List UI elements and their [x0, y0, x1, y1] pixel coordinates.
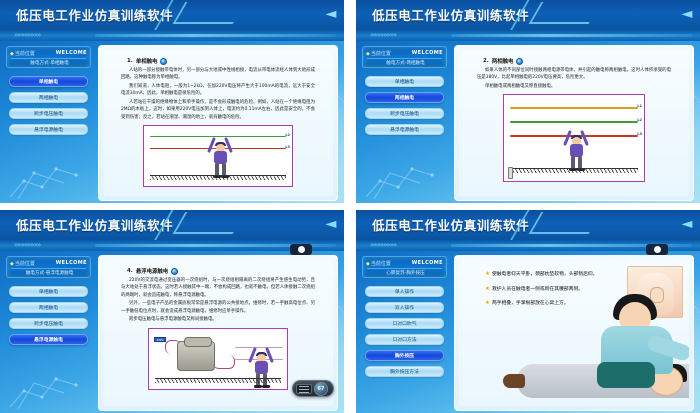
rescuer-figure — [595, 296, 689, 388]
sidebar-item-2[interactable]: 口对口吹气 — [365, 318, 444, 329]
cable-right — [213, 355, 235, 369]
paragraph-0: 220V的交流电通过变压器的一次绕组时，与一次绕组相隔离的二次绕组将产生感生电动… — [121, 277, 315, 299]
person-figure — [249, 345, 273, 379]
sidebar: ◆当前位置 WELCOME 触电方式-两相触电 单相触电 两相触电 跨步电压触电… — [356, 41, 452, 203]
plug-220v: 220V — [154, 337, 166, 342]
location-box: ◆当前位置 WELCOME 心肺复苏-胸外按压 — [362, 256, 447, 278]
figure-two-phase: L1 L2 L3 — [503, 94, 645, 182]
sidebar-item-0[interactable]: 单相触电 — [365, 76, 444, 87]
chevron-marks-icon: »»»»»»»» — [370, 241, 396, 249]
sidebar-decoration-icon — [4, 363, 92, 411]
paragraph-1: 另外，一些电子产品的金属底板常常是悬浮电源的公共接地点。维修时，若一手触高电位点… — [121, 300, 315, 315]
ground-hatch — [155, 378, 281, 383]
sidebar-menu: 单相触电 两相触电 跨步电压触电 悬浮电源触电 — [6, 286, 91, 345]
subbar-line — [451, 34, 692, 37]
welcome-label: WELCOME — [412, 260, 443, 266]
panel-4: 低压电工作业仿真训练软件 ◄ »»»»»»»» ◆当前位置 WELCOME 心肺… — [356, 210, 700, 413]
wire-l2 — [510, 121, 638, 123]
panel-body: ◆当前位置 WELCOME 触电方式-单相触电 单相触电 两相触电 跨步电压触电… — [0, 41, 344, 203]
person-figure — [564, 128, 590, 168]
ground-hatch — [150, 175, 286, 180]
victim-shoe — [503, 374, 525, 388]
location-box: ◆当前位置 WELCOME 触电方式-两相触电 — [362, 46, 447, 68]
sidebar-item-0[interactable]: 单相触电 — [9, 76, 88, 87]
divider — [367, 268, 442, 269]
back-arrow-icon[interactable]: ◄ — [323, 7, 339, 21]
chevron-marks-icon: »»»»»»»» — [14, 241, 40, 249]
section-title: 1. 单相触电 — [127, 57, 333, 65]
panel-2: 低压电工作业仿真训练软件 ◄ »»»»»»»» ◆当前位置 WELCOME 触电… — [356, 0, 700, 203]
panel-3: 低压电工作业仿真训练软件 ◄ »»»»»»»» ◆当前位置 WELCOME 触电… — [0, 210, 344, 413]
star-icon: ★ — [485, 286, 490, 292]
transformer-icon — [177, 341, 215, 371]
star-icon: ★ — [485, 271, 490, 277]
sidebar-menu: 单相触电 两相触电 跨步电压触电 悬浮电源触电 — [362, 76, 447, 135]
location-box: ◆当前位置 WELCOME 触电方式-悬浮电源触电 — [6, 256, 91, 278]
sidebar-item-0[interactable]: 单相触电 — [9, 286, 88, 297]
content-card: ★使触电者仰天平卧，颈部枕垫软物，头部稍后仰。 ★救护人员在触电者一侧或跨在其腰… — [454, 255, 694, 411]
header-bar: 低压电工作业仿真训练软件 ◄ — [0, 0, 344, 30]
sidebar: ◆当前位置 WELCOME 心肺复苏-胸外按压 单人操作 双人操作 口对口吹气 … — [356, 251, 452, 413]
current-location-label: ◆当前位置 — [366, 50, 391, 57]
sidebar-item-1[interactable]: 双人操作 — [365, 302, 444, 313]
divider — [11, 268, 86, 269]
wire-label-l1: L1 — [637, 104, 642, 108]
lightbulb-icon — [171, 268, 178, 275]
current-location-label: ◆当前位置 — [10, 50, 35, 57]
sidebar-item-5[interactable]: 胸外按压方法 — [365, 366, 444, 377]
header-swoosh2-icon — [529, 2, 602, 24]
section-title: 4. 悬浮电源触电 — [127, 267, 333, 275]
header-swoosh2-icon — [529, 212, 602, 234]
media-control-badge[interactable]: 67 — [292, 380, 334, 397]
wire-label-l3: L3 — [637, 132, 642, 136]
wire-label-l2: L2 — [637, 118, 642, 122]
welcome-label: WELCOME — [56, 50, 87, 56]
diamond-icon: ◆ — [366, 261, 370, 267]
lightbulb-icon — [160, 58, 167, 65]
chevron-marks-icon: »»»»»»»» — [370, 31, 396, 39]
sidebar-item-2[interactable]: 跨步电压触电 — [9, 318, 88, 329]
sidebar: ◆当前位置 WELCOME 触电方式-悬浮电源触电 单相触电 两相触电 跨步电压… — [0, 251, 96, 413]
paragraph-2: 跨步电压触电与悬浮电源触电又称间接触电。 — [121, 316, 315, 323]
breadcrumb: 心肺复苏-胸外按压 — [369, 270, 442, 276]
wire-label-l2: L2 — [285, 133, 290, 137]
diamond-icon: ◆ — [10, 51, 14, 57]
sidebar-decoration-icon — [360, 153, 448, 201]
measure-probe-icon — [508, 167, 513, 179]
sidebar: ◆当前位置 WELCOME 触电方式-单相触电 单相触电 两相触电 跨步电压触电… — [0, 41, 96, 203]
header-bar: 低压电工作业仿真训练软件 ◄ — [356, 210, 700, 240]
page-title: 低压电工作业仿真训练软件 — [16, 215, 173, 234]
figure-single-phase: L2 L3 — [143, 125, 293, 187]
page-title: 低压电工作业仿真训练软件 — [16, 5, 173, 24]
divider — [11, 58, 86, 59]
sidebar-item-3[interactable]: 悬浮电源触电 — [9, 334, 88, 345]
sidebar-item-2[interactable]: 跨步电压触电 — [9, 108, 88, 119]
breadcrumb: 触电方式-两相触电 — [369, 60, 442, 66]
header-bar: 低压电工作业仿真训练软件 ◄ — [356, 0, 700, 30]
header-subbar: »»»»»»»» — [356, 30, 700, 41]
breadcrumb: 触电方式-单相触电 — [13, 60, 86, 66]
lightbulb-icon — [516, 58, 523, 65]
sidebar-item-2[interactable]: 跨步电压触电 — [365, 108, 444, 119]
diamond-icon: ◆ — [10, 261, 14, 267]
content-card: 1. 单相触电 人站的一部分接触带电体时，另一部分与大地或中性线相接，电流从带电… — [98, 45, 338, 201]
paragraph-1: 单相触电或两相触电又称直接触电。 — [477, 83, 671, 90]
header-bar: 低压电工作业仿真训练软件 ◄ — [0, 210, 344, 240]
sidebar-item-3[interactable]: 口对口方法 — [365, 334, 444, 345]
header-swoosh2-icon — [173, 2, 246, 24]
page-title: 低压电工作业仿真训练软件 — [372, 215, 529, 234]
page-title: 低压电工作业仿真训练软件 — [372, 5, 529, 24]
sidebar-item-3[interactable]: 悬浮电源触电 — [365, 124, 444, 135]
panel-1: 低压电工作业仿真训练软件 ◄ »»»»»»»» ◆当前位置 WELCOME 触电… — [0, 0, 344, 203]
paragraph-1: 我们知道，人体电阻，一般为1~2kΩ，在加220V电压将产生大于100mA的电流… — [121, 83, 315, 98]
sidebar-item-1[interactable]: 两相触电 — [9, 302, 88, 313]
ground-hatch — [510, 168, 638, 173]
sidebar-menu: 单人操作 双人操作 口对口吹气 口对口方法 胸外按压 胸外按压方法 — [362, 286, 447, 377]
back-arrow-icon[interactable]: ◄ — [679, 7, 695, 21]
cpr-illustration — [477, 296, 689, 406]
paragraph-2: 人若站在干燥的绝缘物体上和单手操作，是不会形成触电的危险。例如，人站在一个绝缘电… — [121, 99, 315, 121]
person-figure — [208, 135, 234, 175]
welcome-label: WELCOME — [412, 50, 443, 56]
section-title: 2. 两相触电 — [483, 57, 689, 65]
sidebar-item-3[interactable]: 悬浮电源触电 — [9, 124, 88, 135]
dial-value[interactable]: 67 — [314, 382, 328, 396]
subbar-line — [95, 34, 336, 37]
header-swoosh2-icon — [173, 212, 246, 234]
location-box: ◆当前位置 WELCOME 触电方式-单相触电 — [6, 46, 91, 68]
menu-lines-icon[interactable] — [296, 384, 312, 394]
welcome-label: WELCOME — [56, 260, 87, 266]
breadcrumb: 触电方式-悬浮电源触电 — [13, 270, 86, 276]
content-card: 2. 两相触电 如果人体的不同部位同时接触两相电源带电体，并引起的触电称两相触电… — [454, 45, 694, 201]
figure-floating-source: 220V — [148, 328, 288, 390]
sidebar-item-0[interactable]: 单人操作 — [365, 286, 444, 297]
paragraph-0: 如果人体的不同部位同时接触两相电源带电体，并引起的触电称两相触电。这时人体所承受… — [477, 67, 671, 82]
divider — [367, 58, 442, 59]
wire-label-l3: L3 — [285, 145, 290, 149]
sidebar-menu: 单相触电 两相触电 跨步电压触电 悬浮电源触电 — [6, 76, 91, 135]
diamond-icon: ◆ — [366, 51, 370, 57]
sidebar-decoration-icon — [4, 153, 92, 201]
current-location-label: ◆当前位置 — [10, 260, 35, 267]
panel-body: ◆当前位置 WELCOME 心肺复苏-胸外按压 单人操作 双人操作 口对口吹气 … — [356, 251, 700, 413]
sidebar-item-1[interactable]: 两相触电 — [365, 92, 444, 103]
sidebar-item-1[interactable]: 两相触电 — [9, 92, 88, 103]
paragraph-0: 人站的一部分接触带电体时，另一部分与大地或中性线相接，电流从带电体流经人体到大地… — [121, 67, 315, 82]
screenshot-grid: 低压电工作业仿真训练软件 ◄ »»»»»»»» ◆当前位置 WELCOME 触电… — [0, 0, 700, 413]
panel-body: ◆当前位置 WELCOME 触电方式-两相触电 单相触电 两相触电 跨步电压触电… — [356, 41, 700, 203]
back-arrow-icon[interactable]: ◄ — [679, 217, 695, 231]
current-location-label: ◆当前位置 — [366, 260, 391, 267]
header-subbar: »»»»»»»» — [0, 30, 344, 41]
wire-l1 — [510, 107, 638, 109]
chevron-marks-icon: »»»»»»»» — [14, 31, 40, 39]
sidebar-item-4[interactable]: 胸外按压 — [365, 350, 444, 361]
back-arrow-icon[interactable]: ◄ — [323, 217, 339, 231]
